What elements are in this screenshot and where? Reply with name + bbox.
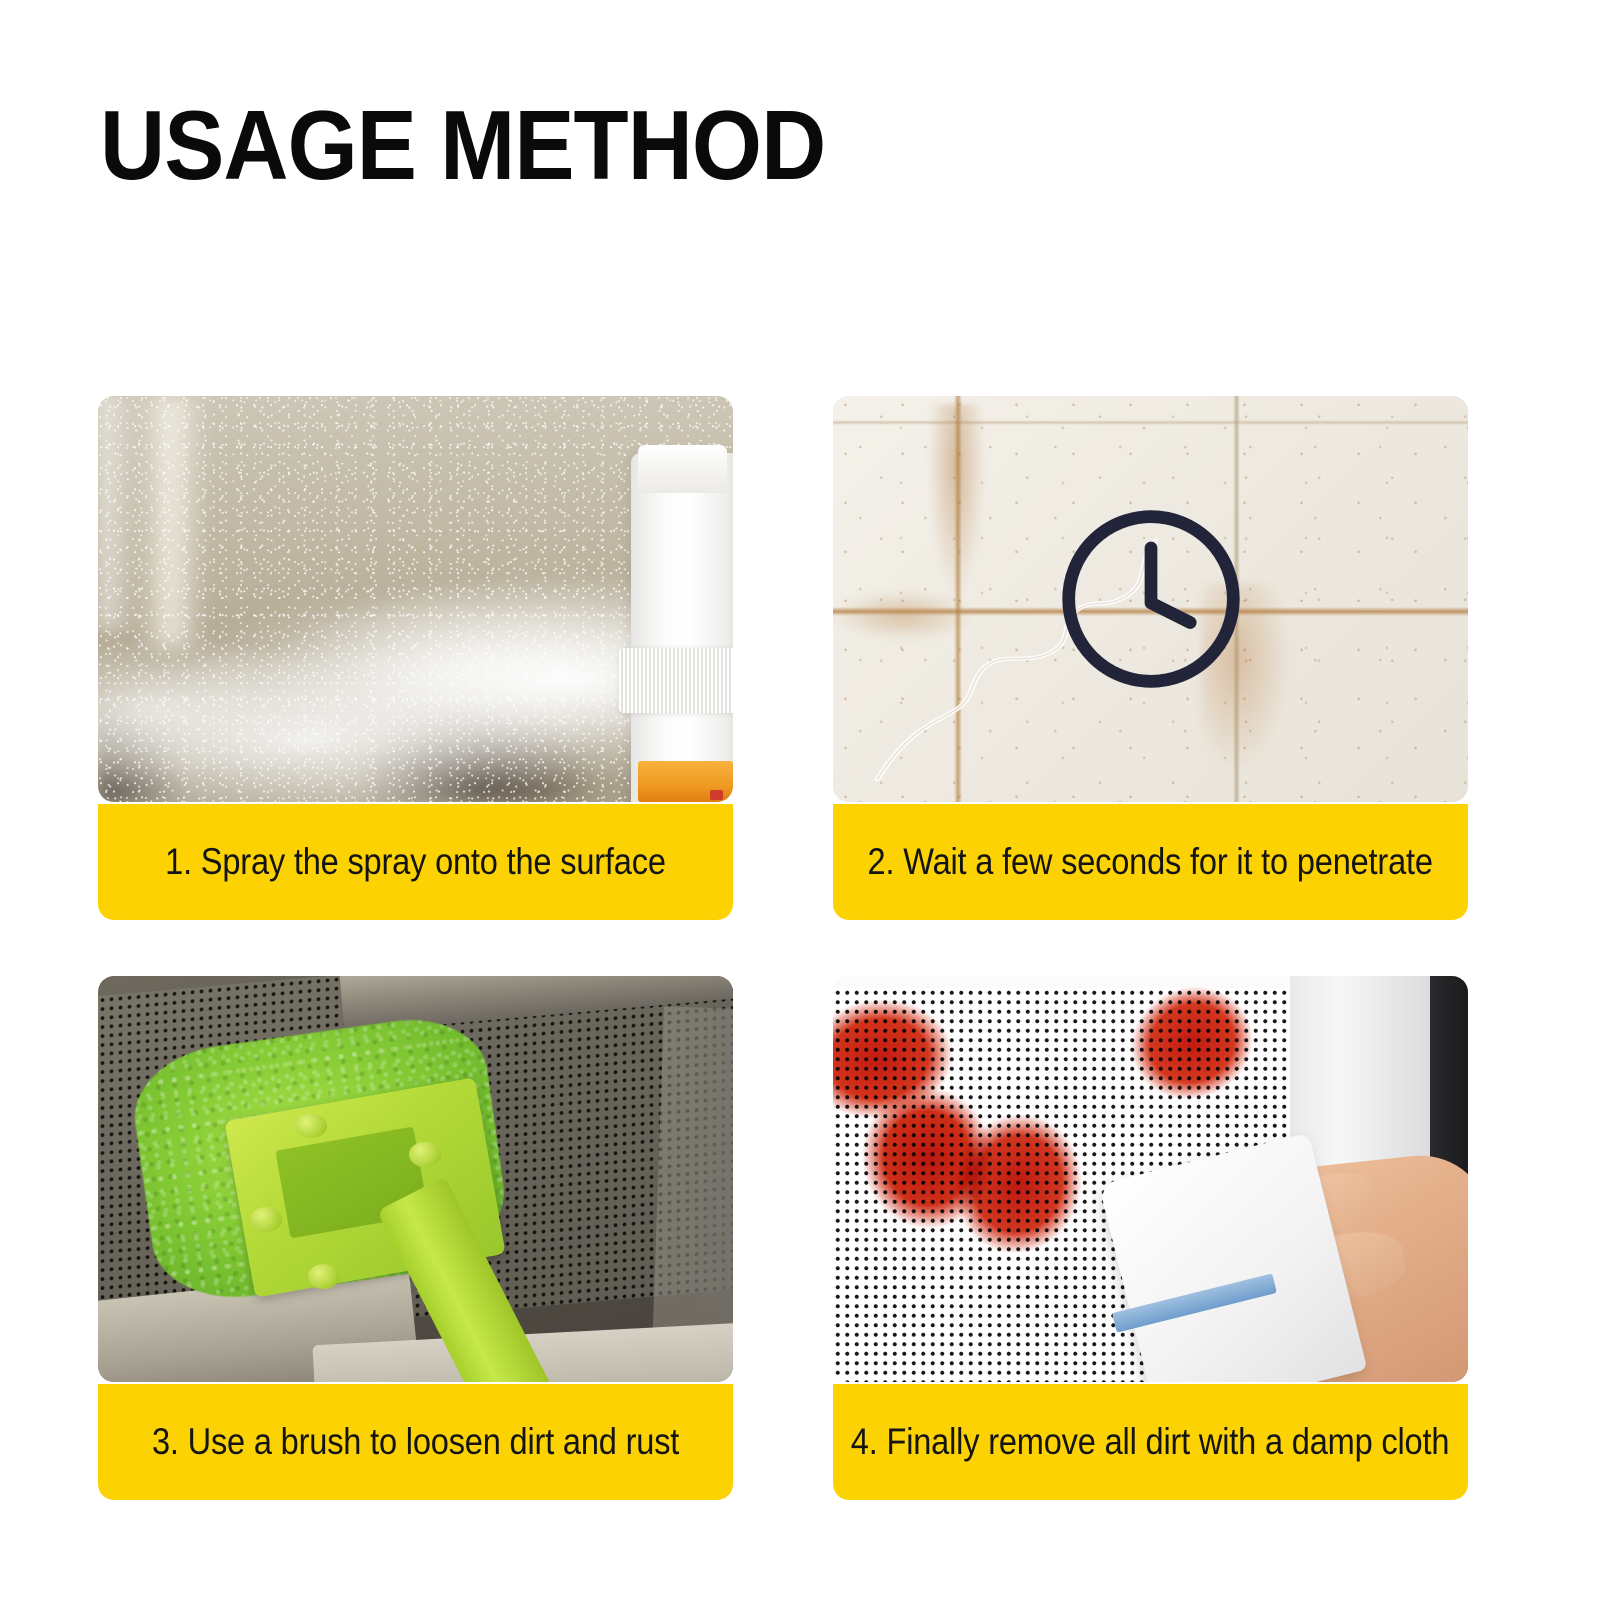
spray-bottle-body <box>631 453 733 802</box>
brush-rivet <box>295 1114 327 1138</box>
photo-layers <box>833 976 1468 1382</box>
spray-mist-photo <box>98 396 733 802</box>
spray-bottle-nozzle <box>638 445 727 494</box>
spray-bottle-label-accent <box>710 790 724 800</box>
brush-mesh-photo <box>98 976 733 1382</box>
step-caption-text-1: 1. Spray the spray onto the surface <box>165 841 666 883</box>
brush-rivet <box>308 1264 340 1288</box>
clock-icon <box>1053 501 1249 697</box>
step-caption-bar-2: 2. Wait a few seconds for it to penetrat… <box>833 804 1468 920</box>
step-caption-bar-3: 3. Use a brush to loosen dirt and rust <box>98 1384 733 1500</box>
step-caption-text-2: 2. Wait a few seconds for it to penetrat… <box>868 841 1433 883</box>
step-caption-bar-4: 4. Finally remove all dirt with a damp c… <box>833 1384 1468 1500</box>
tile-wall-photo <box>833 396 1468 802</box>
photo-layers <box>98 396 733 802</box>
step-caption-text-3: 3. Use a brush to loosen dirt and rust <box>152 1421 679 1463</box>
step-caption-bar-1: 1. Spray the spray onto the surface <box>98 804 733 920</box>
page-title: USAGE METHOD <box>100 96 825 194</box>
step-card-2: 2. Wait a few seconds for it to penetrat… <box>833 396 1468 920</box>
brush-rivet <box>250 1207 282 1231</box>
step-card-4: 4. Finally remove all dirt with a damp c… <box>833 976 1468 1500</box>
photo-layers <box>833 396 1468 802</box>
step-card-1: 1. Spray the spray onto the surface <box>98 396 733 920</box>
photo-layers <box>98 976 733 1382</box>
wipe-cloth-photo <box>833 976 1468 1382</box>
step-caption-text-4: 4. Finally remove all dirt with a damp c… <box>851 1421 1449 1463</box>
spray-bottle-collar <box>619 648 733 713</box>
usage-method-page: USAGE METHOD <box>0 0 1600 1600</box>
sauce-splatter-bottom <box>846 1293 1037 1366</box>
brush-rivet <box>409 1142 441 1166</box>
steps-grid: 1. Spray the spray onto the surface <box>98 396 1468 1500</box>
step-card-3: 3. Use a brush to loosen dirt and rust <box>98 976 733 1500</box>
